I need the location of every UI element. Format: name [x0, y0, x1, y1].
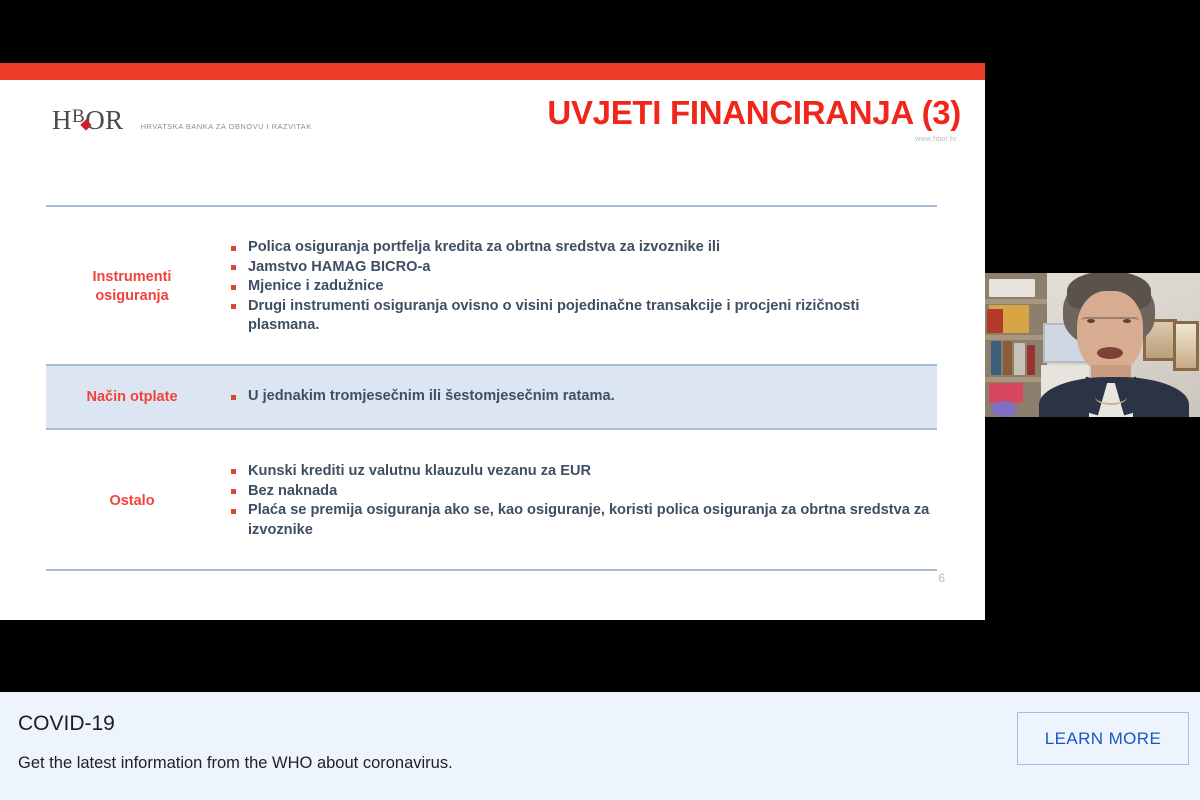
bullet-list: Kunski krediti uz valutnu klauzulu vezan… [222, 462, 933, 540]
row-label-nacin-otplate: Način otplate [46, 388, 218, 407]
row-content: U jednakim tromjesečnim ili šestomjesečn… [218, 387, 937, 407]
row-label-line-1: Instrumenti [52, 268, 212, 287]
logo-tagline: HRVATSKA BANKA ZA OBNOVU I RAZVITAK [141, 122, 312, 131]
person-face [1077, 291, 1143, 373]
table-row: Instrumenti osiguranja Polica osiguranja… [46, 225, 937, 350]
conditions-table: Instrumenti osiguranja Polica osiguranja… [46, 205, 937, 571]
hbor-logo: HBOR HRVATSKA BANKA ZA OBNOVU I RAZVITAK [52, 107, 312, 134]
bullet-list: Polica osiguranja portfelja kredita za o… [222, 238, 933, 336]
slide-top-accent-bar [0, 63, 985, 80]
eyeglasses [1081, 317, 1139, 328]
row-content: Polica osiguranja portfelja kredita za o… [218, 238, 937, 336]
list-item: Mjenice i zadužnice [222, 277, 933, 297]
screen: HBOR HRVATSKA BANKA ZA OBNOVU I RAZVITAK… [0, 0, 1200, 800]
necklace [1095, 389, 1127, 405]
person-mouth [1097, 347, 1123, 359]
learn-more-button[interactable]: LEARN MORE [1017, 712, 1189, 765]
logo-letter-h: H [52, 105, 72, 135]
video-frame [985, 273, 1200, 417]
list-item: Kunski krediti uz valutnu klauzulu vezan… [222, 462, 933, 482]
picture-frame [1173, 321, 1199, 371]
banner-subtitle: Get the latest information from the WHO … [18, 754, 453, 773]
slide-url: www.hbor.hr [915, 136, 957, 143]
bullet-list: U jednakim tromjesečnim ili šestomjesečn… [222, 387, 933, 407]
participant-video-thumbnail[interactable] [985, 265, 1200, 425]
row-content: Kunski krediti uz valutnu klauzulu vezan… [218, 462, 937, 540]
slide-title: UVJETI FINANCIRANJA (3) [547, 94, 961, 132]
row-label-ostalo: Ostalo [46, 492, 218, 511]
bookshelf [985, 273, 1047, 417]
row-label-instrumenti-osiguranja: Instrumenti osiguranja [46, 268, 218, 306]
list-item: Drugi instrumenti osiguranja ovisno o vi… [222, 297, 933, 336]
list-item: Jamstvo HAMAG BICRO-a [222, 258, 933, 278]
logo-letters-or: OR [85, 105, 124, 135]
slide: HBOR HRVATSKA BANKA ZA OBNOVU I RAZVITAK… [0, 63, 985, 620]
logo-wordmark: HBOR [52, 107, 124, 134]
table-row: Ostalo Kunski krediti uz valutnu klauzul… [46, 448, 937, 555]
table-row: Način otplate U jednakim tromjesečnim il… [46, 366, 937, 428]
slide-page-number: 6 [938, 571, 945, 585]
table-rule-bottom [46, 569, 937, 571]
banner-title: COVID-19 [18, 712, 115, 736]
list-item: U jednakim tromjesečnim ili šestomjesečn… [222, 387, 933, 407]
row-label-line-2: osiguranja [52, 287, 212, 306]
slide-body: HBOR HRVATSKA BANKA ZA OBNOVU I RAZVITAK… [0, 80, 985, 620]
list-item: Polica osiguranja portfelja kredita za o… [222, 238, 933, 258]
list-item: Bez naknada [222, 482, 933, 502]
list-item: Plaća se premija osiguranja ako se, kao … [222, 501, 933, 540]
presentation-video-area[interactable]: HBOR HRVATSKA BANKA ZA OBNOVU I RAZVITAK… [0, 0, 1200, 692]
